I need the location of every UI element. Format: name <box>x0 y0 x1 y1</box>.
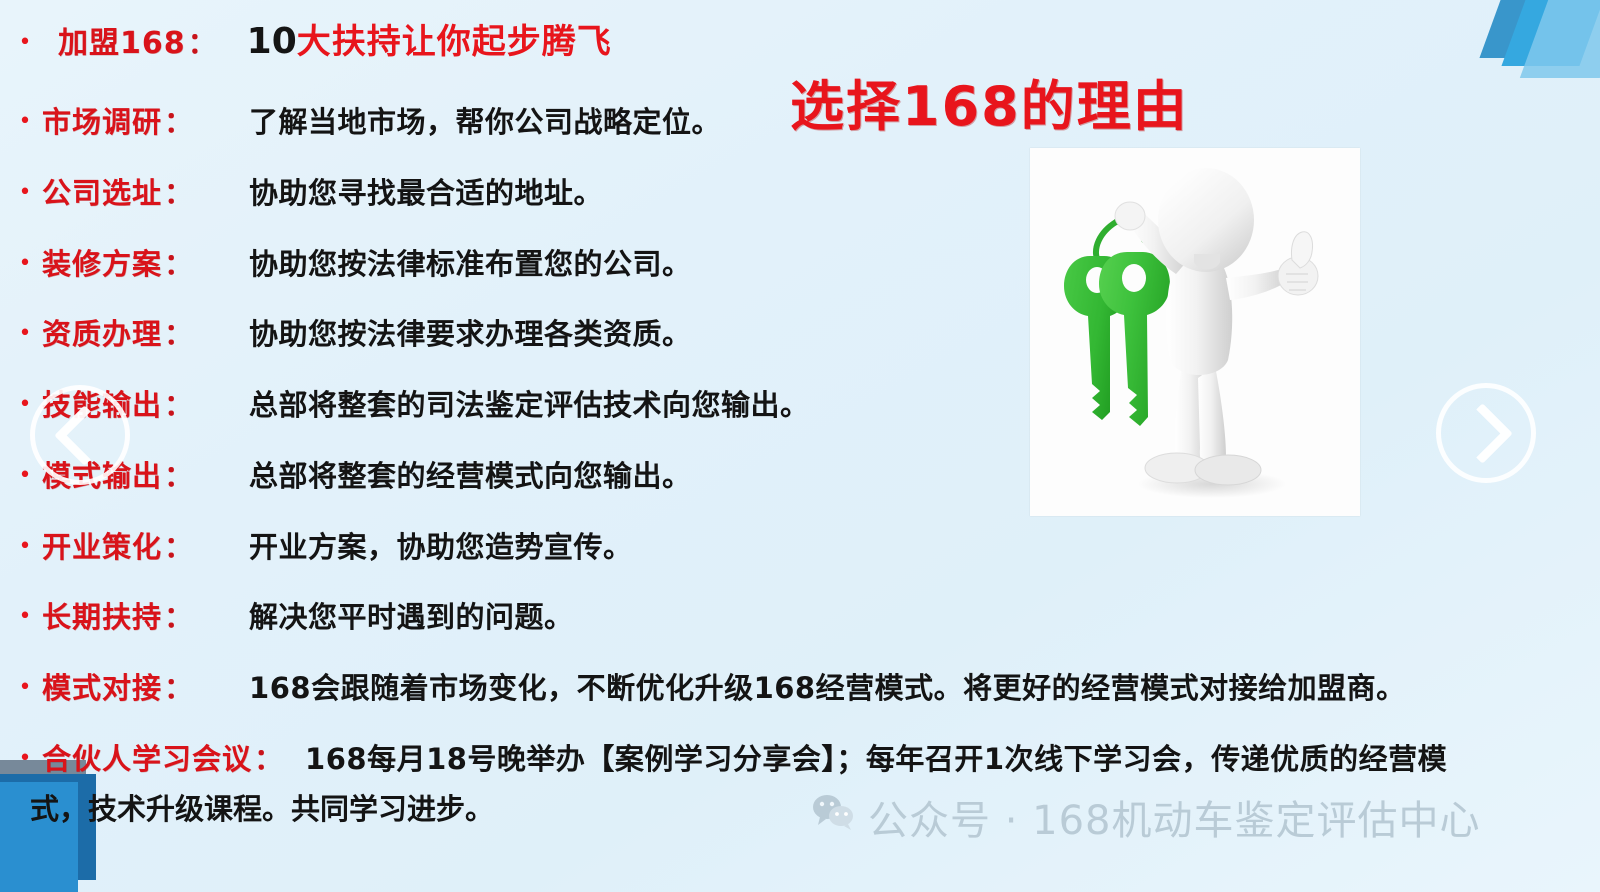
next-slide-button[interactable] <box>1436 383 1536 483</box>
list-item-desc: 总部将整套的经营模式向您输出。 <box>193 453 692 495</box>
parallelogram-shape-3 <box>1520 0 1600 78</box>
list-item: • 市场调研 ： 了解当地市场，帮你公司战略定位。 <box>8 99 721 141</box>
list-item-label: 合伙人学习会议 <box>42 736 252 778</box>
list-item-colon: ： <box>162 382 193 424</box>
bullet-icon: • <box>8 323 42 345</box>
wechat-icon <box>812 793 856 841</box>
list-item-desc: 协助您按法律要求办理各类资质。 <box>193 311 692 353</box>
bullet-icon: • <box>8 182 42 204</box>
list-item: • 长期扶持 ： 解决您平时遇到的问题。 <box>8 594 574 636</box>
list-item-head: • 加盟168 ： 10 大扶持让你起步腾飞 <box>8 14 612 63</box>
list-item-label: 装修方案 <box>42 241 162 283</box>
list-item-label: 模式对接 <box>42 665 162 707</box>
list-item-colon: ： <box>162 524 193 566</box>
chevron-left-icon <box>54 405 115 466</box>
list-item-label: 开业策化 <box>42 524 162 566</box>
head-number: 10 <box>217 21 297 62</box>
list-item-colon: ： <box>162 99 193 141</box>
prev-slide-button[interactable] <box>30 385 130 485</box>
parallelogram-shape-2 <box>1501 0 1600 66</box>
bullet-icon: • <box>8 111 42 133</box>
chevron-right-icon <box>1452 403 1513 464</box>
list-item-colon: ： <box>252 736 283 778</box>
watermark-text: 公众号 · 168机动车鉴定评估中心 <box>868 788 1481 846</box>
list-item: • 开业策化 ： 开业方案，协助您造势宣传。 <box>8 524 633 566</box>
bullet-icon: • <box>8 606 42 628</box>
list-item-desc-line2: 式，技术升级课程。共同学习进步。 <box>30 786 494 828</box>
bullet-icon: • <box>8 32 42 54</box>
list-item: • 技能输出 ： 总部将整套的司法鉴定评估技术向您输出。 <box>8 382 810 424</box>
parallelogram-decoration <box>1460 0 1600 72</box>
list-item-colon: ： <box>162 594 193 636</box>
list-item-desc: 168会跟随着市场变化，不断优化升级168经营模式。将更好的经营模式对接给加盟商… <box>193 665 1406 707</box>
list-item-desc: 了解当地市场，帮你公司战略定位。 <box>193 99 721 141</box>
head-rest-text: 大扶持让你起步腾飞 <box>297 14 612 63</box>
bullet-icon: • <box>8 748 42 770</box>
list-item: • 模式对接 ： 168会跟随着市场变化，不断优化升级168经营模式。将更好的经… <box>8 665 1406 707</box>
list-item-colon: ： <box>162 453 193 495</box>
list-item-desc-line1: 168每月18号晚举办【案例学习分享会】；每年召开1次线下学习会，传递优质的经营… <box>283 736 1447 778</box>
list-item-colon: ： <box>162 241 193 283</box>
list-item-label: 加盟168 <box>42 18 186 62</box>
illustration-photo <box>1030 148 1360 516</box>
slide-heading: 选择168的理由 <box>790 62 1189 141</box>
list-item-desc: 总部将整套的司法鉴定评估技术向您输出。 <box>193 382 810 424</box>
list-item-label: 资质办理 <box>42 311 162 353</box>
bullet-icon: • <box>8 677 42 699</box>
list-item-colon: ： <box>162 665 193 707</box>
parallelogram-shape-1 <box>1479 0 1580 58</box>
list-item: • 资质办理 ： 协助您按法律要求办理各类资质。 <box>8 311 692 353</box>
list-item: • 公司选址 ： 协助您寻找最合适的地址。 <box>8 170 603 212</box>
bullet-icon: • <box>8 465 42 487</box>
bullet-icon: • <box>8 253 42 275</box>
list-item-label: 长期扶持 <box>42 594 162 636</box>
watermark: 公众号 · 168机动车鉴定评估中心 <box>812 788 1481 846</box>
list-item-desc: 开业方案，协助您造势宣传。 <box>193 524 633 566</box>
list-item-last: • 合伙人学习会议 ： 168每月18号晚举办【案例学习分享会】；每年召开1次线… <box>8 736 1447 778</box>
list-item-desc: 协助您按法律标准布置您的公司。 <box>193 241 692 283</box>
list-item-colon: ： <box>186 20 217 62</box>
list-item: • 装修方案 ： 协助您按法律标准布置您的公司。 <box>8 241 692 283</box>
list-item-colon: ： <box>162 170 193 212</box>
list-item-desc: 协助您寻找最合适的地址。 <box>193 170 603 212</box>
slide-canvas: 选择168的理由 • 加盟168 ： 10 大扶持让你起步腾飞 • 市场调研 ：… <box>0 0 1600 892</box>
bullet-icon: • <box>8 536 42 558</box>
list-item-desc: 解决您平时遇到的问题。 <box>193 594 574 636</box>
list-item-colon: ： <box>162 311 193 353</box>
list-item-label: 公司选址 <box>42 170 162 212</box>
list-item-label: 市场调研 <box>42 99 162 141</box>
figure-with-keys-illustration <box>1030 148 1360 516</box>
